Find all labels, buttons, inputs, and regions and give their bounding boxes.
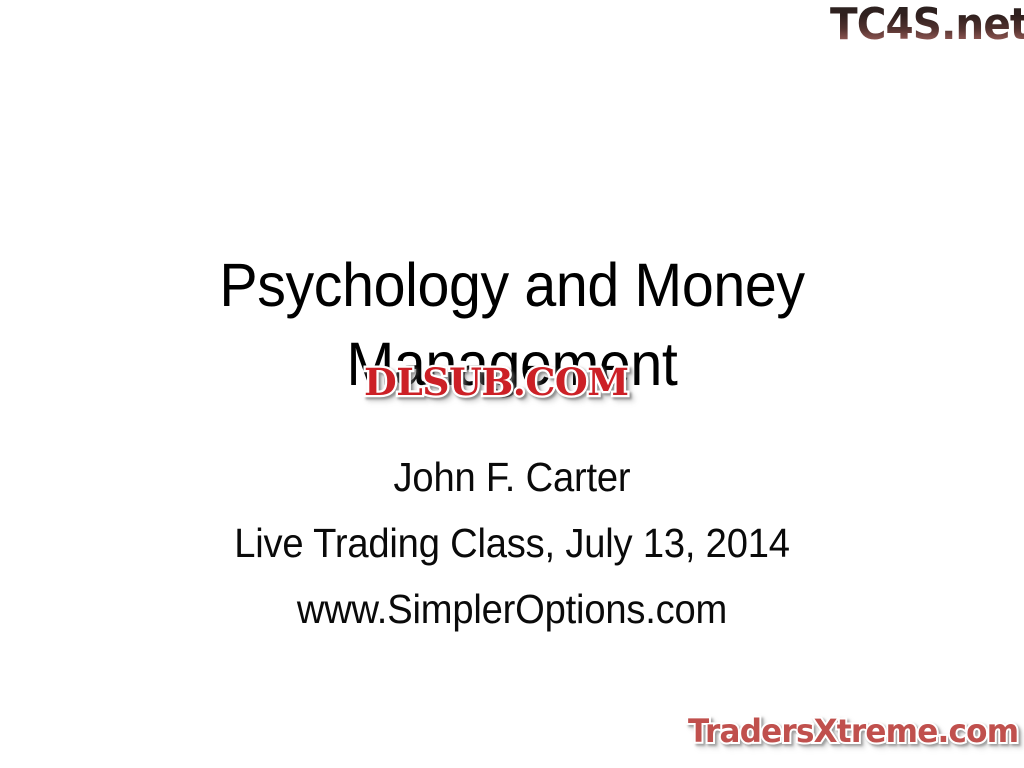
slide-title-line-1: Psychology and Money [31,246,994,325]
tradersxtreme-com-watermark: TradersXtreme.com [688,712,1024,750]
tc4s-net-watermark: TC4S.net [830,1,1024,49]
dlsub-com-watermark: DLSUB.COM [364,361,623,403]
slide-subtitle: John F. Carter Live Trading Class, July … [0,444,1024,642]
subtitle-website-url: www.SimplerOptions.com [36,576,988,642]
dlsub-com-watermark-text: DLSUB.COM [364,361,629,403]
subtitle-presenter-name: John F. Carter [36,444,988,510]
tradersxtreme-com-watermark-text: TradersXtreme.com [688,712,1018,750]
subtitle-class-and-date: Live Trading Class, July 13, 2014 [36,510,988,576]
presentation-slide: TC4S.net Psychology and Money Management… [0,0,1024,768]
